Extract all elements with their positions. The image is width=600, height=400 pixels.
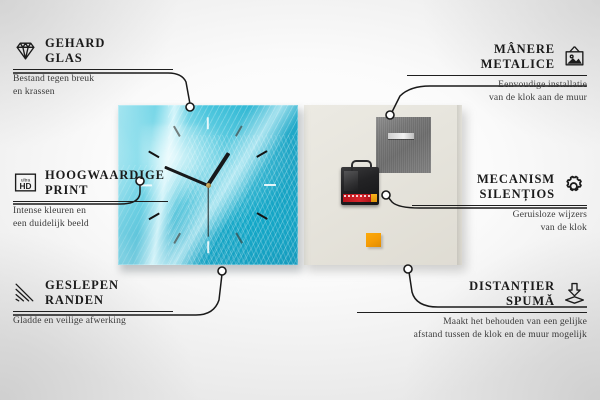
foam-spacer [366, 233, 381, 247]
feature-manere-metalice: MÂNEREMETALICE Eenvoudige installatievan… [407, 42, 587, 105]
diamond-icon [13, 38, 38, 63]
gear-icon [562, 174, 587, 199]
feature-title: DISTANȚIERSPUMĂ [469, 279, 555, 309]
feature-title: MECANISMSILENȚIOS [477, 172, 555, 202]
mechanism-battery-marker [371, 194, 377, 202]
mechanism-sheen [344, 171, 358, 191]
feature-rule [407, 75, 587, 76]
feature-hoogwaardige-print: ultra HD HOOGWAARDIGEPRINT Intense kleur… [13, 168, 168, 231]
feature-header: GESLEPENRANDEN [13, 278, 173, 308]
clock-hour-mark [173, 233, 181, 245]
feature-distantier-spuma: DISTANȚIERSPUMĂ Maakt het behouden van e… [357, 279, 587, 342]
beveled-edges-icon [13, 280, 38, 305]
feature-title: GESLEPENRANDEN [45, 278, 119, 308]
feature-header: GEHARDGLAS [13, 36, 173, 66]
clock-center-hub [206, 183, 211, 188]
metal-hanger [376, 117, 431, 173]
feature-rule [13, 201, 168, 202]
mechanism-hanger-loop [351, 160, 372, 171]
hanger-slot [388, 133, 414, 139]
feature-description: Eenvoudige installatievan de klok aan de… [407, 79, 587, 105]
feature-rule [13, 69, 173, 70]
mechanism-red-label [343, 194, 373, 202]
silent-clock-mechanism [341, 167, 379, 205]
picture-frame-icon [562, 44, 587, 69]
ultra-hd-icon: ultra HD [13, 170, 38, 195]
svg-text:HD: HD [19, 181, 31, 191]
feature-description: Gladde en veilige afwerking [13, 315, 173, 328]
feature-rule [357, 312, 587, 313]
feature-title: GEHARDGLAS [45, 36, 105, 66]
clock-hour-mark [207, 241, 209, 253]
feature-description: Bestand tegen breuken krassen [13, 73, 173, 99]
clock-hour-mark [235, 233, 243, 245]
mechanism-label-text [344, 195, 372, 197]
feature-description: Geruisloze wijzersvan de klok [412, 209, 587, 235]
feature-gehard-glas: GEHARDGLAS Bestand tegen breuken krassen [13, 36, 173, 99]
clock-hour-mark [256, 212, 268, 220]
hanger-grain [376, 117, 431, 173]
spacer-arrow-icon [562, 281, 587, 306]
clock-hour-mark [256, 150, 268, 158]
feature-header: DISTANȚIERSPUMĂ [357, 279, 587, 309]
feature-description: Intense kleuren eneen duidelijk beeld [13, 205, 168, 231]
clock-second-hand [207, 185, 208, 237]
feature-geslepen-randen: GESLEPENRANDEN Gladde en veilige afwerki… [13, 278, 173, 328]
clock-hour-mark [235, 125, 243, 137]
feature-mecanism-silentios: MECANISMSILENȚIOS Geruisloze wijzersvan … [412, 172, 587, 235]
feature-header: MECANISMSILENȚIOS [412, 172, 587, 202]
feature-description: Maakt het behouden van een gelijkeafstan… [357, 316, 587, 342]
feature-rule [412, 205, 587, 206]
feature-header: MÂNEREMETALICE [407, 42, 587, 72]
clock-hour-mark [264, 184, 276, 186]
infographic-canvas: GEHARDGLAS Bestand tegen breuken krassen… [0, 0, 600, 400]
feature-header: ultra HD HOOGWAARDIGEPRINT [13, 168, 168, 198]
feature-title: MÂNEREMETALICE [481, 42, 555, 72]
feature-title: HOOGWAARDIGEPRINT [45, 168, 165, 198]
feature-rule [13, 311, 173, 312]
